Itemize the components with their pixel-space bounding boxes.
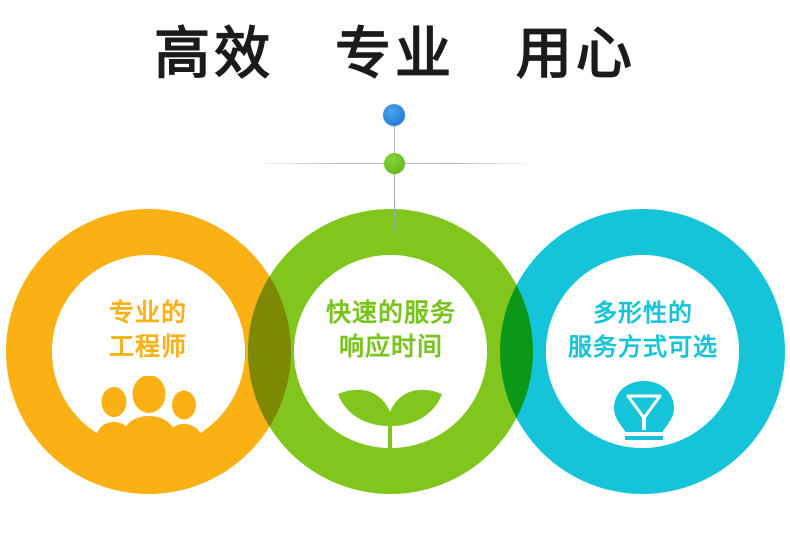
feature-cyan-line2: 服务方式可选 — [513, 330, 773, 364]
headline-word-3: 用心 — [516, 26, 636, 85]
feature-cell-green: 快速的服务 响应时间 — [261, 296, 521, 364]
feature-cell-cyan: 多形性的 服务方式可选 — [513, 296, 773, 364]
people-group-icon — [92, 376, 207, 448]
feature-green-line1: 快速的服务 — [261, 296, 521, 330]
sprout-icon — [320, 382, 460, 448]
infographic-canvas: 高效 专业 用心 专业的 工程师 — [0, 0, 790, 557]
page-title: 高效 专业 用心 — [0, 26, 790, 85]
feature-cell-orange: 专业的 工程师 — [18, 296, 278, 364]
feature-orange-line1: 专业的 — [18, 296, 278, 330]
feature-green-line2: 响应时间 — [261, 330, 521, 364]
headline-word-1: 高效 — [154, 26, 274, 85]
feature-cyan-line1: 多形性的 — [513, 296, 773, 330]
headline-word-2: 专业 — [335, 26, 455, 85]
lightbulb-icon — [606, 380, 682, 448]
feature-orange-line2: 工程师 — [18, 330, 278, 364]
